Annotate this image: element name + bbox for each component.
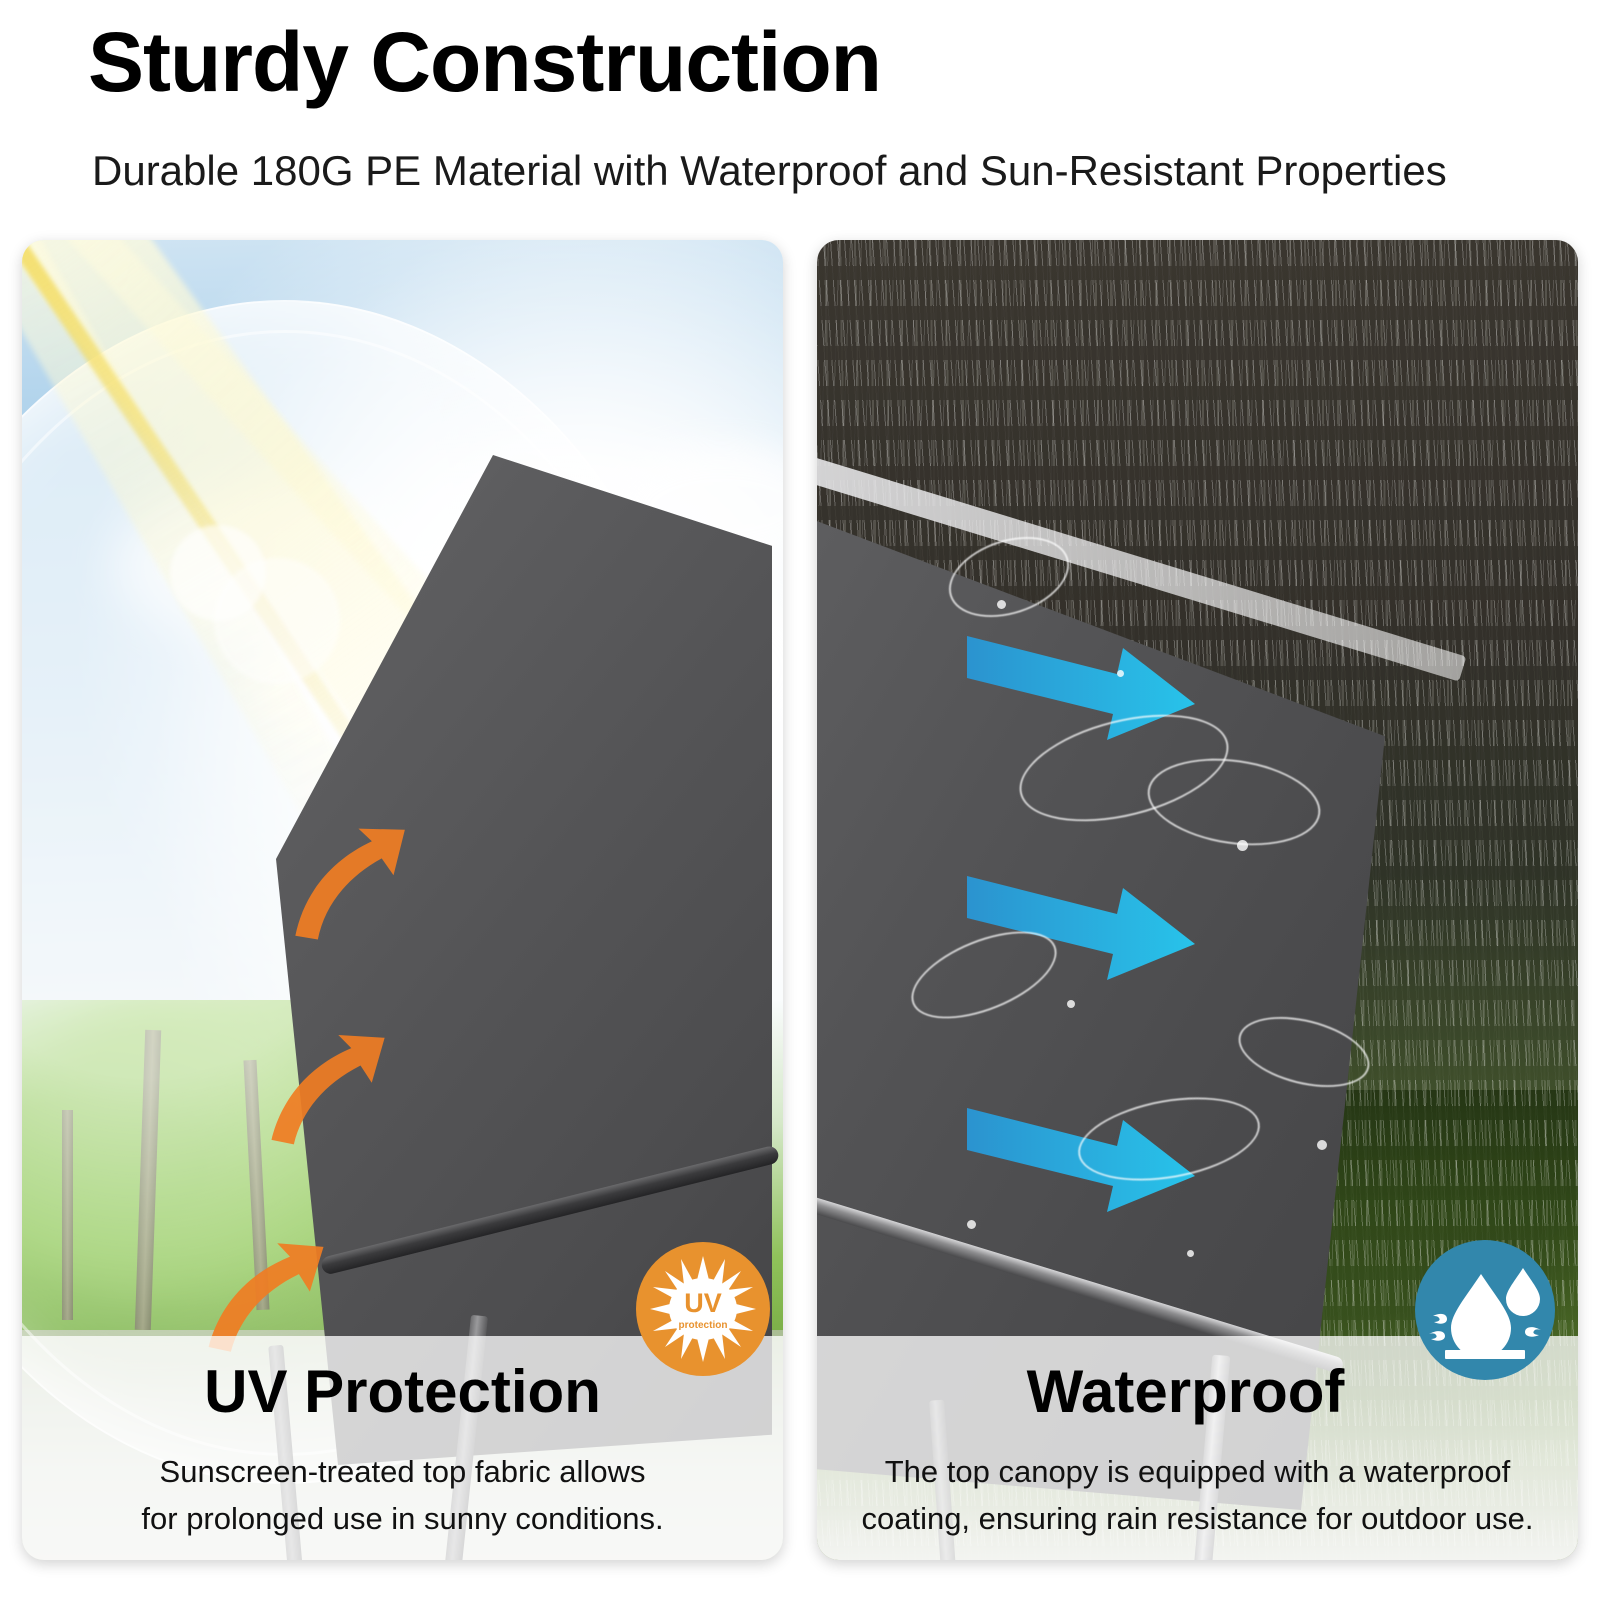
feature-panel-uv-protection[interactable]: UV Protection Sunscreen-treated top fabr… — [22, 240, 783, 1560]
uv-badge-primary-text: UV — [684, 1288, 722, 1318]
feature-panel-waterproof[interactable]: Waterproof The top canopy is equipped wi… — [817, 240, 1578, 1560]
water-droplet — [997, 600, 1006, 609]
uv-deflection-arrow-icon — [258, 1028, 394, 1149]
water-droplet — [1237, 840, 1248, 851]
panel-body-line1: The top canopy is equipped with a waterp… — [885, 1454, 1511, 1489]
uv-deflection-arrow-icon — [278, 820, 417, 945]
splash-ring — [1072, 1085, 1267, 1194]
water-droplet-icon — [1415, 1240, 1555, 1380]
splash-ring — [899, 914, 1068, 1037]
splash-ring — [939, 523, 1080, 632]
water-droplet — [1067, 1000, 1075, 1008]
water-droplet — [1187, 1250, 1194, 1257]
panel-body-line2: coating, ensuring rain resistance for ou… — [861, 1501, 1533, 1536]
splash-ring — [1231, 1005, 1377, 1100]
lens-flare-icon — [214, 558, 340, 684]
page-subtitle: Durable 180G PE Material with Waterproof… — [92, 148, 1447, 194]
water-droplet — [967, 1220, 976, 1229]
water-droplet — [1317, 1140, 1327, 1150]
panel-body-text: The top canopy is equipped with a waterp… — [817, 1448, 1578, 1542]
water-droplet — [1117, 670, 1124, 677]
uv-badge-secondary-text: protection — [679, 1320, 728, 1331]
uv-protection-badge: UV protection — [636, 1242, 770, 1376]
page-title: Sturdy Construction — [88, 18, 881, 106]
waterproof-badge — [1415, 1240, 1555, 1380]
panel-body-line2: for prolonged use in sunny conditions. — [141, 1501, 663, 1536]
header: Sturdy Construction Durable 180G PE Mate… — [0, 0, 1600, 240]
panel-body-line1: Sunscreen-treated top fabric allows — [160, 1454, 646, 1489]
panel-body-text: Sunscreen-treated top fabric allows for … — [22, 1448, 783, 1542]
sunburst-icon: UV protection — [636, 1242, 770, 1376]
